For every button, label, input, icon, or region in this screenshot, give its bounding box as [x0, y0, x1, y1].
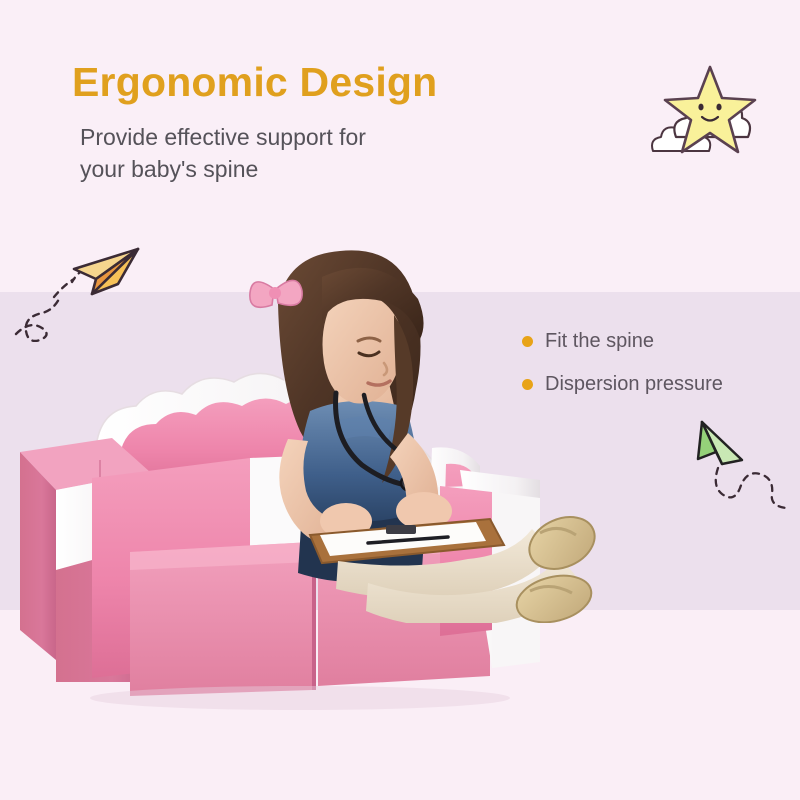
clipboard-clip: [386, 525, 416, 534]
child-photo: [218, 243, 618, 623]
star-eye-left: [698, 104, 703, 111]
page-subtitle: Provide effective support for your baby'…: [80, 122, 592, 185]
paper-plane-yellow-icon: [10, 222, 160, 342]
sofa-shadow: [90, 686, 510, 710]
poster-canvas: Ergonomic Design Provide effective suppo…: [0, 0, 800, 800]
hair-bow: [250, 280, 302, 307]
paper-plane-green-icon: [672, 412, 800, 520]
star-eye-right: [716, 104, 721, 111]
headline-block: Ergonomic Design Provide effective suppo…: [72, 60, 592, 186]
star-cloud-icon: [645, 55, 775, 170]
page-title: Ergonomic Design: [72, 60, 592, 104]
